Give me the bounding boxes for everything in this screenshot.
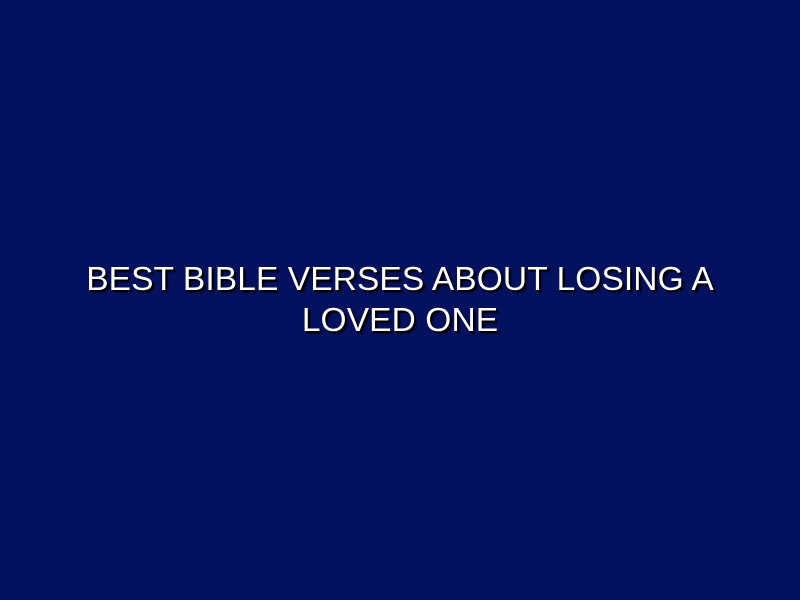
title-block: BEST BIBLE VERSES ABOUT LOSING A LOVED O…	[60, 259, 740, 341]
title-banner: BEST BIBLE VERSES ABOUT LOSING A LOVED O…	[0, 0, 800, 600]
page-title: BEST BIBLE VERSES ABOUT LOSING A LOVED O…	[70, 259, 730, 341]
